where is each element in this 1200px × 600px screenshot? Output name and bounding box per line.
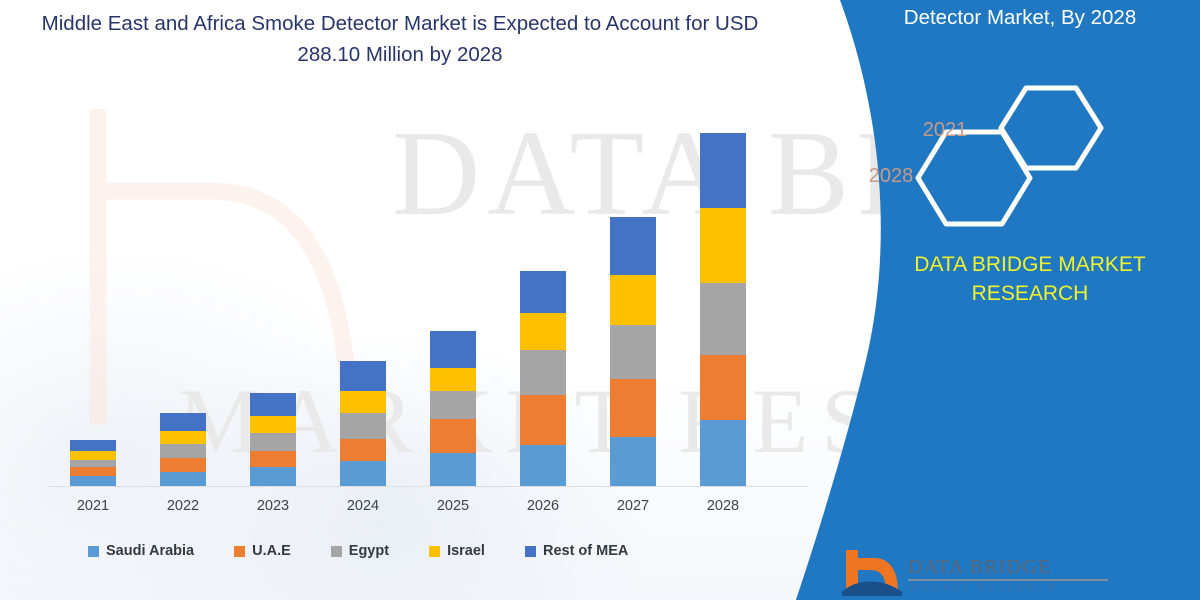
bar-segment-israel-2025[interactable] [430,368,476,391]
panel-heading: Detector Market, By 2028 [840,6,1200,30]
bar-group-2024[interactable] [340,361,386,486]
legend-label: Egypt [349,543,389,559]
brand-line-2: RESEARCH [972,282,1089,305]
bar-segment-saudi-arabia-2024[interactable] [340,461,386,486]
legend-item-u-a-e[interactable]: U.A.E [234,543,291,559]
bar-segment-rest-of-mea-2028[interactable] [700,133,746,208]
x-axis-label-2022: 2022 [138,498,228,514]
bar-segment-u-a-e-2028[interactable] [700,355,746,421]
x-axis-labels: 20212022202320242025202620272028 [48,498,808,522]
hexagon-label-far: 2021 [908,119,982,142]
x-axis-label-2021: 2021 [48,498,138,514]
bar-segment-egypt-2023[interactable] [250,433,296,451]
brand-line-1: DATA BRIDGE MARKET [914,253,1145,276]
x-axis-label-2023: 2023 [228,498,318,514]
footer-logo-rule [908,579,1108,581]
bar-segment-saudi-arabia-2028[interactable] [700,420,746,486]
legend-swatch-icon [331,546,342,557]
bar-segment-israel-2021[interactable] [70,451,116,459]
bar-segment-saudi-arabia-2021[interactable] [70,476,116,486]
bar-group-2027[interactable] [610,217,656,486]
bar-segment-saudi-arabia-2026[interactable] [520,445,566,486]
legend-item-rest-of-mea[interactable]: Rest of MEA [525,543,628,559]
chart-plot-area [48,110,808,487]
bar-segment-israel-2028[interactable] [700,208,746,282]
x-axis-line [48,486,808,487]
hexagon-label-near: 2028 [854,165,928,188]
brand-name: DATA BRIDGE MARKET RESEARCH [860,250,1200,308]
legend-item-israel[interactable]: Israel [429,543,485,559]
bar-segment-israel-2023[interactable] [250,416,296,434]
x-axis-label-2028: 2028 [678,498,768,514]
legend-item-saudi-arabia[interactable]: Saudi Arabia [88,543,194,559]
page-title: Middle East and Africa Smoke Detector Ma… [40,8,760,70]
footer-logo: DATA BRIDGE MARKET RESEARCH [840,548,1190,600]
x-axis-label-2025: 2025 [408,498,498,514]
infographic-canvas: DATA BRIDGE MARKET RESEARCH Middle East … [0,0,1200,600]
bar-segment-rest-of-mea-2024[interactable] [340,361,386,391]
chart-legend: Saudi ArabiaU.A.EEgyptIsraelRest of MEA [88,540,668,562]
legend-label: Rest of MEA [543,543,628,559]
legend-swatch-icon [429,546,440,557]
x-axis-label-2024: 2024 [318,498,408,514]
bar-segment-rest-of-mea-2022[interactable] [160,413,206,431]
stacked-bar-chart [48,110,808,490]
bar-group-2023[interactable] [250,393,296,486]
bar-segment-egypt-2027[interactable] [610,325,656,379]
bar-segment-rest-of-mea-2027[interactable] [610,217,656,275]
bar-segment-u-a-e-2022[interactable] [160,458,206,471]
bar-segment-rest-of-mea-2025[interactable] [430,331,476,368]
bar-segment-u-a-e-2025[interactable] [430,419,476,453]
bar-segment-saudi-arabia-2025[interactable] [430,453,476,486]
footer-logo-icon [840,548,904,596]
bar-segment-israel-2022[interactable] [160,431,206,444]
bar-segment-israel-2027[interactable] [610,275,656,324]
bar-segment-u-a-e-2024[interactable] [340,439,386,461]
bar-segment-israel-2026[interactable] [520,313,566,350]
bar-segment-israel-2024[interactable] [340,391,386,413]
bar-segment-egypt-2028[interactable] [700,283,746,355]
bar-segment-egypt-2024[interactable] [340,413,386,438]
bar-segment-egypt-2022[interactable] [160,444,206,458]
bar-segment-u-a-e-2026[interactable] [520,395,566,445]
bar-segment-saudi-arabia-2027[interactable] [610,437,656,486]
x-axis-label-2027: 2027 [588,498,678,514]
bar-segment-egypt-2021[interactable] [70,460,116,467]
bar-segment-saudi-arabia-2023[interactable] [250,467,296,486]
bar-segment-rest-of-mea-2026[interactable] [520,271,566,313]
legend-swatch-icon [234,546,245,557]
hexagon-pair [900,80,1120,230]
legend-swatch-icon [525,546,536,557]
bar-segment-egypt-2025[interactable] [430,391,476,418]
bar-group-2025[interactable] [430,331,476,486]
bar-group-2022[interactable] [160,413,206,486]
legend-swatch-icon [88,546,99,557]
bar-group-2028[interactable] [700,133,746,486]
footer-logo-text: DATA BRIDGE [908,556,1051,579]
footer-logo-subtext: MARKET RESEARCH [910,582,1058,593]
hexagon-2028-shape [918,132,1030,224]
right-brand-panel: Detector Market, By 2028 2021 2028 DATA … [780,0,1200,600]
legend-item-egypt[interactable]: Egypt [331,543,389,559]
bar-segment-u-a-e-2027[interactable] [610,379,656,437]
bar-segment-rest-of-mea-2021[interactable] [70,440,116,451]
bar-segment-u-a-e-2023[interactable] [250,451,296,467]
bar-group-2021[interactable] [70,440,116,486]
bar-group-2026[interactable] [520,271,566,486]
legend-label: U.A.E [252,543,291,559]
x-axis-label-2026: 2026 [498,498,588,514]
legend-label: Saudi Arabia [106,543,194,559]
bar-segment-saudi-arabia-2022[interactable] [160,472,206,486]
bar-segment-rest-of-mea-2023[interactable] [250,393,296,416]
legend-label: Israel [447,543,485,559]
bar-segment-egypt-2026[interactable] [520,350,566,395]
bar-segment-u-a-e-2021[interactable] [70,467,116,476]
